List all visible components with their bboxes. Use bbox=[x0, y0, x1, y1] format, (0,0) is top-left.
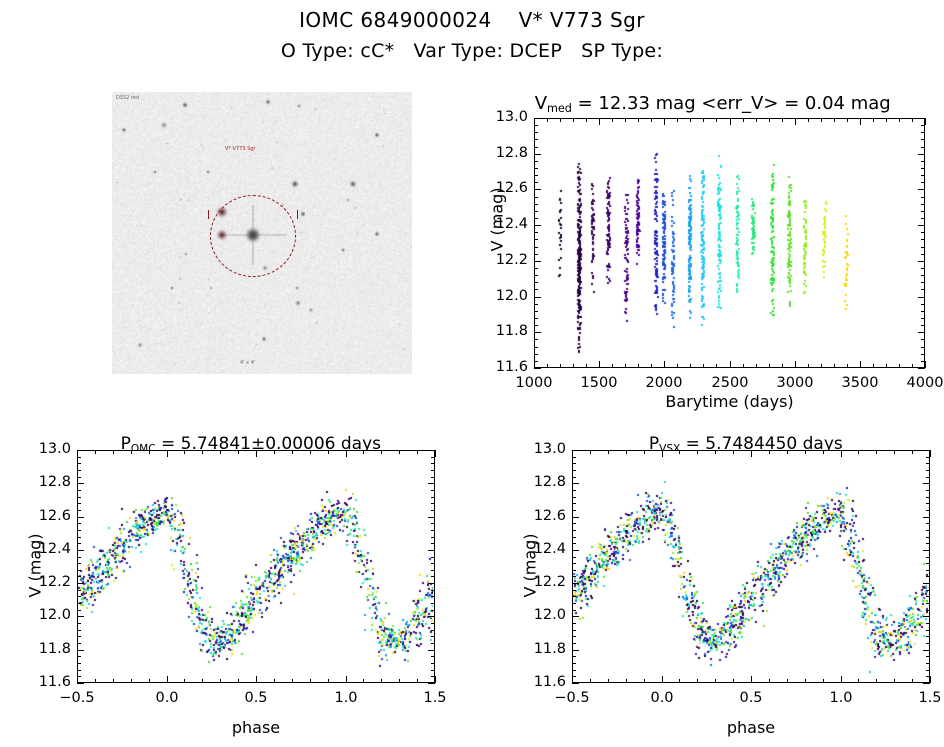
x-major-tick bbox=[730, 361, 731, 368]
aperture-tick-right bbox=[297, 210, 298, 219]
y-minor-tick-right bbox=[921, 239, 925, 240]
y-major-tick-right bbox=[428, 483, 435, 484]
y-minor-tick bbox=[572, 470, 576, 471]
y-minor-tick-right bbox=[921, 339, 925, 340]
y-minor-tick-right bbox=[431, 670, 435, 671]
y-tick-label: 12.0 bbox=[15, 607, 71, 623]
y-minor-tick bbox=[572, 523, 576, 524]
x-minor-tick bbox=[310, 679, 311, 683]
y-major-tick bbox=[534, 225, 541, 226]
x-minor-tick bbox=[733, 679, 734, 683]
y-minor-tick bbox=[572, 636, 576, 637]
y-tick-label: 11.6 bbox=[15, 674, 71, 690]
x-minor-tick bbox=[858, 679, 859, 683]
x-tick-label: −0.5 bbox=[532, 690, 612, 706]
y-minor-tick bbox=[77, 590, 81, 591]
y-major-tick-right bbox=[428, 550, 435, 551]
y-minor-tick bbox=[572, 623, 576, 624]
x-tick-label: 0.0 bbox=[622, 690, 702, 706]
x-minor-tick bbox=[876, 679, 877, 683]
target-aperture-circle bbox=[210, 195, 296, 277]
y-minor-tick bbox=[572, 463, 576, 464]
y-minor-tick-right bbox=[921, 282, 925, 283]
y-minor-tick bbox=[534, 161, 538, 162]
x-major-tick bbox=[346, 676, 347, 683]
y-minor-tick-right bbox=[921, 304, 925, 305]
y-minor-tick-right bbox=[926, 563, 930, 564]
x-major-tick-top bbox=[435, 450, 436, 457]
y-minor-tick bbox=[572, 563, 576, 564]
x-minor-tick-top bbox=[625, 118, 626, 122]
y-minor-tick-right bbox=[921, 361, 925, 362]
y-minor-tick-right bbox=[926, 477, 930, 478]
y-major-tick bbox=[572, 550, 579, 551]
y-minor-tick bbox=[77, 537, 81, 538]
x-minor-tick bbox=[894, 679, 895, 683]
y-minor-tick-right bbox=[926, 503, 930, 504]
y-major-tick-right bbox=[923, 583, 930, 584]
vmed-summary-line: Vmed = 12.33 mag <err_V> = 0.04 mag bbox=[470, 72, 944, 115]
y-minor-tick bbox=[534, 125, 538, 126]
x-minor-tick bbox=[715, 679, 716, 683]
x-minor-tick bbox=[912, 364, 913, 368]
y-major-tick bbox=[572, 683, 579, 684]
y-minor-tick bbox=[534, 218, 538, 219]
y-major-tick-right bbox=[918, 118, 925, 119]
x-minor-tick-top bbox=[808, 118, 809, 122]
y-minor-tick bbox=[77, 603, 81, 604]
y-minor-tick bbox=[534, 268, 538, 269]
y-minor-tick-right bbox=[921, 168, 925, 169]
x-minor-tick bbox=[823, 679, 824, 683]
x-minor-tick-top bbox=[220, 450, 221, 454]
x-minor-tick-top bbox=[310, 450, 311, 454]
y-minor-tick-right bbox=[921, 211, 925, 212]
y-minor-tick bbox=[534, 275, 538, 276]
y-minor-tick-right bbox=[921, 289, 925, 290]
x-major-tick-top bbox=[256, 450, 257, 457]
x-tick-label: 0.0 bbox=[127, 690, 207, 706]
y-minor-tick-right bbox=[921, 318, 925, 319]
y-minor-tick bbox=[534, 197, 538, 198]
x-minor-tick-top bbox=[626, 450, 627, 454]
y-tick-label: 13.0 bbox=[15, 441, 71, 457]
y-major-tick-right bbox=[428, 650, 435, 651]
y-minor-tick-right bbox=[921, 268, 925, 269]
y-minor-tick bbox=[77, 470, 81, 471]
x-minor-tick bbox=[899, 364, 900, 368]
x-minor-tick bbox=[716, 364, 717, 368]
y-major-tick bbox=[572, 517, 579, 518]
x-minor-tick-top bbox=[876, 450, 877, 454]
x-minor-tick-top bbox=[716, 118, 717, 122]
x-minor-tick-top bbox=[399, 450, 400, 454]
y-minor-tick bbox=[534, 311, 538, 312]
x-minor-tick-top bbox=[679, 450, 680, 454]
y-minor-tick bbox=[572, 537, 576, 538]
x-major-tick bbox=[572, 676, 573, 683]
x-minor-tick bbox=[274, 679, 275, 683]
x-minor-tick-top bbox=[690, 118, 691, 122]
y-major-tick-right bbox=[923, 483, 930, 484]
y-minor-tick-right bbox=[921, 354, 925, 355]
y-tick-label: 11.6 bbox=[510, 674, 566, 690]
lightcurve-plot-frame bbox=[534, 118, 925, 368]
x-minor-tick bbox=[608, 679, 609, 683]
y-minor-tick-right bbox=[926, 457, 930, 458]
x-minor-tick bbox=[677, 364, 678, 368]
y-minor-tick bbox=[572, 497, 576, 498]
x-major-tick bbox=[860, 361, 861, 368]
x-minor-tick-top bbox=[590, 450, 591, 454]
y-minor-tick bbox=[534, 347, 538, 348]
y-tick-label: 11.8 bbox=[472, 323, 528, 339]
y-minor-tick-right bbox=[926, 470, 930, 471]
x-minor-tick bbox=[399, 679, 400, 683]
y-minor-tick bbox=[572, 510, 576, 511]
y-minor-tick bbox=[77, 610, 81, 611]
y-minor-tick-right bbox=[926, 610, 930, 611]
y-major-tick-right bbox=[918, 261, 925, 262]
y-major-tick-right bbox=[918, 368, 925, 369]
x-minor-tick-top bbox=[834, 118, 835, 122]
y-minor-tick bbox=[572, 457, 576, 458]
y-minor-tick-right bbox=[921, 161, 925, 162]
x-minor-tick bbox=[417, 679, 418, 683]
y-minor-tick-right bbox=[921, 232, 925, 233]
x-major-tick bbox=[795, 361, 796, 368]
x-minor-tick-top bbox=[292, 450, 293, 454]
y-minor-tick-right bbox=[431, 570, 435, 571]
y-minor-tick bbox=[77, 543, 81, 544]
x-tick-label: 1.5 bbox=[395, 690, 475, 706]
y-minor-tick-right bbox=[926, 576, 930, 577]
y-tick-label: 12.0 bbox=[510, 607, 566, 623]
x-major-tick-top bbox=[664, 118, 665, 125]
x-minor-tick bbox=[560, 364, 561, 368]
y-minor-tick-right bbox=[926, 590, 930, 591]
y-minor-tick bbox=[534, 204, 538, 205]
y-minor-tick bbox=[77, 510, 81, 511]
x-minor-tick bbox=[590, 679, 591, 683]
x-minor-tick-top bbox=[743, 118, 744, 122]
y-minor-tick-right bbox=[431, 470, 435, 471]
y-minor-tick-right bbox=[921, 204, 925, 205]
y-minor-tick bbox=[534, 289, 538, 290]
y-minor-tick bbox=[534, 239, 538, 240]
y-minor-tick bbox=[572, 590, 576, 591]
y-minor-tick-right bbox=[926, 656, 930, 657]
y-minor-tick-right bbox=[921, 218, 925, 219]
x-minor-tick-top bbox=[638, 118, 639, 122]
y-minor-tick-right bbox=[926, 490, 930, 491]
y-major-tick-right bbox=[923, 650, 930, 651]
y-minor-tick-right bbox=[431, 503, 435, 504]
y-minor-tick bbox=[572, 477, 576, 478]
y-minor-tick-right bbox=[926, 497, 930, 498]
x-tick-label: −0.5 bbox=[37, 690, 117, 706]
x-major-tick bbox=[256, 676, 257, 683]
x-minor-tick bbox=[113, 679, 114, 683]
x-minor-tick bbox=[703, 364, 704, 368]
x-minor-tick bbox=[625, 364, 626, 368]
y-minor-tick-right bbox=[926, 676, 930, 677]
x-minor-tick-top bbox=[715, 450, 716, 454]
y-minor-tick bbox=[77, 656, 81, 657]
y-tick-label: 12.6 bbox=[15, 508, 71, 524]
y-minor-tick bbox=[77, 477, 81, 478]
y-minor-tick-right bbox=[431, 663, 435, 664]
y-minor-tick-right bbox=[921, 139, 925, 140]
x-minor-tick bbox=[184, 679, 185, 683]
x-minor-tick bbox=[149, 679, 150, 683]
y-major-tick-right bbox=[918, 189, 925, 190]
x-tick-label: 1.5 bbox=[890, 690, 944, 706]
x-minor-tick-top bbox=[381, 450, 382, 454]
y-major-tick bbox=[534, 261, 541, 262]
y-minor-tick bbox=[77, 676, 81, 677]
y-major-tick-right bbox=[923, 550, 930, 551]
x-minor-tick bbox=[769, 679, 770, 683]
y-minor-tick-right bbox=[431, 576, 435, 577]
y-minor-tick bbox=[534, 175, 538, 176]
y-tick-label: 11.8 bbox=[510, 641, 566, 657]
y-minor-tick-right bbox=[431, 477, 435, 478]
x-minor-tick bbox=[873, 364, 874, 368]
x-minor-tick-top bbox=[823, 450, 824, 454]
y-major-tick bbox=[572, 450, 579, 451]
phase-omc-y-axis-label: V (mag) bbox=[26, 531, 45, 601]
x-minor-tick bbox=[787, 679, 788, 683]
y-minor-tick-right bbox=[926, 557, 930, 558]
y-minor-tick bbox=[534, 182, 538, 183]
y-major-tick bbox=[77, 517, 84, 518]
y-major-tick bbox=[77, 616, 84, 617]
y-major-tick bbox=[534, 189, 541, 190]
x-minor-tick bbox=[821, 364, 822, 368]
x-minor-tick bbox=[131, 679, 132, 683]
y-minor-tick-right bbox=[431, 630, 435, 631]
y-minor-tick-right bbox=[926, 630, 930, 631]
phase-omc-x-axis-label: phase bbox=[77, 718, 435, 737]
dss-finder-chart: DSS2 red V* V773 Sgr 4' x 4' bbox=[112, 92, 412, 374]
y-minor-tick-right bbox=[431, 490, 435, 491]
y-major-tick-right bbox=[923, 517, 930, 518]
y-minor-tick-right bbox=[431, 463, 435, 464]
y-minor-tick bbox=[77, 497, 81, 498]
x-major-tick-top bbox=[730, 118, 731, 125]
x-minor-tick-top bbox=[697, 450, 698, 454]
y-minor-tick-right bbox=[431, 510, 435, 511]
x-minor-tick-top bbox=[328, 450, 329, 454]
y-minor-tick bbox=[534, 168, 538, 169]
x-minor-tick bbox=[679, 679, 680, 683]
x-minor-tick bbox=[769, 364, 770, 368]
x-minor-tick-top bbox=[95, 450, 96, 454]
y-minor-tick-right bbox=[926, 663, 930, 664]
y-minor-tick bbox=[77, 563, 81, 564]
x-minor-tick-top bbox=[782, 118, 783, 122]
y-minor-tick-right bbox=[431, 497, 435, 498]
x-major-tick-top bbox=[346, 450, 347, 457]
x-major-tick-top bbox=[662, 450, 663, 457]
y-minor-tick bbox=[572, 557, 576, 558]
y-minor-tick-right bbox=[431, 623, 435, 624]
x-minor-tick bbox=[886, 364, 887, 368]
lightcurve-y-axis-label: V (mag) bbox=[488, 185, 507, 255]
x-major-tick bbox=[534, 361, 535, 368]
x-major-tick-top bbox=[795, 118, 796, 125]
x-tick-label: 0.5 bbox=[711, 690, 791, 706]
x-minor-tick bbox=[612, 364, 613, 368]
y-minor-tick bbox=[534, 282, 538, 283]
y-minor-tick-right bbox=[431, 557, 435, 558]
y-minor-tick bbox=[77, 630, 81, 631]
y-major-tick-right bbox=[428, 450, 435, 451]
phase-vsx-y-axis-label: V (mag) bbox=[521, 531, 540, 601]
y-minor-tick-right bbox=[431, 643, 435, 644]
y-minor-tick-right bbox=[921, 275, 925, 276]
y-minor-tick bbox=[572, 610, 576, 611]
x-minor-tick bbox=[756, 364, 757, 368]
y-major-tick bbox=[77, 683, 84, 684]
y-minor-tick bbox=[572, 576, 576, 577]
x-minor-tick-top bbox=[858, 450, 859, 454]
y-major-tick-right bbox=[918, 332, 925, 333]
x-major-tick bbox=[930, 676, 931, 683]
y-minor-tick-right bbox=[926, 623, 930, 624]
x-major-tick bbox=[664, 361, 665, 368]
x-minor-tick bbox=[220, 679, 221, 683]
x-minor-tick bbox=[690, 364, 691, 368]
x-minor-tick-top bbox=[873, 118, 874, 122]
y-minor-tick-right bbox=[921, 175, 925, 176]
aperture-tick-left bbox=[208, 210, 209, 219]
x-minor-tick-top bbox=[417, 450, 418, 454]
phase-omc-canvas bbox=[78, 451, 433, 681]
y-major-tick bbox=[572, 650, 579, 651]
y-major-tick bbox=[534, 332, 541, 333]
y-tick-label: 12.0 bbox=[472, 288, 528, 304]
y-minor-tick bbox=[77, 670, 81, 671]
y-minor-tick-right bbox=[431, 543, 435, 544]
y-minor-tick bbox=[572, 670, 576, 671]
x-minor-tick bbox=[834, 364, 835, 368]
y-minor-tick-right bbox=[926, 670, 930, 671]
vmed-symbol: V bbox=[535, 93, 547, 114]
y-minor-tick bbox=[77, 570, 81, 571]
y-major-tick bbox=[77, 550, 84, 551]
x-major-tick bbox=[599, 361, 600, 368]
x-minor-tick-top bbox=[677, 118, 678, 122]
lightcurve-x-axis-label: Barytime (days) bbox=[534, 392, 925, 411]
y-major-tick bbox=[534, 297, 541, 298]
y-minor-tick-right bbox=[921, 247, 925, 248]
y-minor-tick-right bbox=[926, 643, 930, 644]
y-minor-tick bbox=[534, 132, 538, 133]
phase-omc-plot-frame bbox=[77, 450, 435, 683]
y-tick-label: 11.6 bbox=[472, 359, 528, 375]
x-minor-tick bbox=[644, 679, 645, 683]
y-minor-tick bbox=[77, 596, 81, 597]
y-tick-label: 11.8 bbox=[15, 641, 71, 657]
y-minor-tick-right bbox=[926, 523, 930, 524]
y-minor-tick bbox=[534, 304, 538, 305]
y-major-tick-right bbox=[923, 450, 930, 451]
lightcurve-canvas bbox=[535, 119, 923, 366]
x-minor-tick-top bbox=[733, 450, 734, 454]
x-tick-label: 1.0 bbox=[306, 690, 386, 706]
y-minor-tick bbox=[534, 354, 538, 355]
y-major-tick-right bbox=[428, 683, 435, 684]
x-minor-tick bbox=[626, 679, 627, 683]
y-minor-tick bbox=[77, 463, 81, 464]
x-minor-tick-top bbox=[573, 118, 574, 122]
y-major-tick-right bbox=[923, 616, 930, 617]
y-major-tick bbox=[572, 583, 579, 584]
y-minor-tick-right bbox=[921, 147, 925, 148]
x-minor-tick-top bbox=[202, 450, 203, 454]
x-tick-label: 0.5 bbox=[216, 690, 296, 706]
x-major-tick bbox=[841, 676, 842, 683]
y-major-tick bbox=[572, 616, 579, 617]
y-tick-label: 13.0 bbox=[472, 109, 528, 125]
y-major-tick-right bbox=[918, 297, 925, 298]
x-minor-tick bbox=[573, 364, 574, 368]
x-major-tick-top bbox=[167, 450, 168, 457]
page-title: IOMC 6849000024 V* V773 Sgr bbox=[0, 8, 944, 32]
x-major-tick bbox=[925, 361, 926, 368]
y-tick-label: 13.0 bbox=[510, 441, 566, 457]
x-minor-tick-top bbox=[912, 118, 913, 122]
y-minor-tick bbox=[572, 570, 576, 571]
y-minor-tick bbox=[572, 676, 576, 677]
x-minor-tick bbox=[292, 679, 293, 683]
x-minor-tick-top bbox=[805, 450, 806, 454]
x-minor-tick bbox=[238, 679, 239, 683]
y-minor-tick bbox=[77, 490, 81, 491]
x-minor-tick bbox=[586, 364, 587, 368]
y-minor-tick-right bbox=[926, 543, 930, 544]
y-minor-tick bbox=[77, 457, 81, 458]
finder-target-label: V* V773 Sgr bbox=[225, 146, 255, 152]
phase-vsx-plot-frame bbox=[572, 450, 930, 683]
y-minor-tick bbox=[534, 247, 538, 248]
y-minor-tick-right bbox=[431, 523, 435, 524]
y-minor-tick bbox=[572, 503, 576, 504]
y-minor-tick bbox=[534, 232, 538, 233]
x-minor-tick-top bbox=[769, 118, 770, 122]
y-minor-tick bbox=[77, 530, 81, 531]
y-minor-tick bbox=[534, 325, 538, 326]
x-minor-tick-top bbox=[847, 118, 848, 122]
y-major-tick bbox=[534, 118, 541, 119]
y-major-tick-right bbox=[923, 683, 930, 684]
y-minor-tick-right bbox=[431, 610, 435, 611]
y-minor-tick bbox=[534, 254, 538, 255]
y-minor-tick-right bbox=[921, 132, 925, 133]
y-minor-tick bbox=[534, 318, 538, 319]
x-minor-tick-top bbox=[886, 118, 887, 122]
x-major-tick bbox=[435, 676, 436, 683]
x-major-tick bbox=[77, 676, 78, 683]
x-minor-tick bbox=[743, 364, 744, 368]
x-major-tick-top bbox=[860, 118, 861, 125]
y-minor-tick bbox=[572, 630, 576, 631]
x-minor-tick-top bbox=[899, 118, 900, 122]
y-minor-tick bbox=[77, 643, 81, 644]
x-minor-tick bbox=[805, 679, 806, 683]
